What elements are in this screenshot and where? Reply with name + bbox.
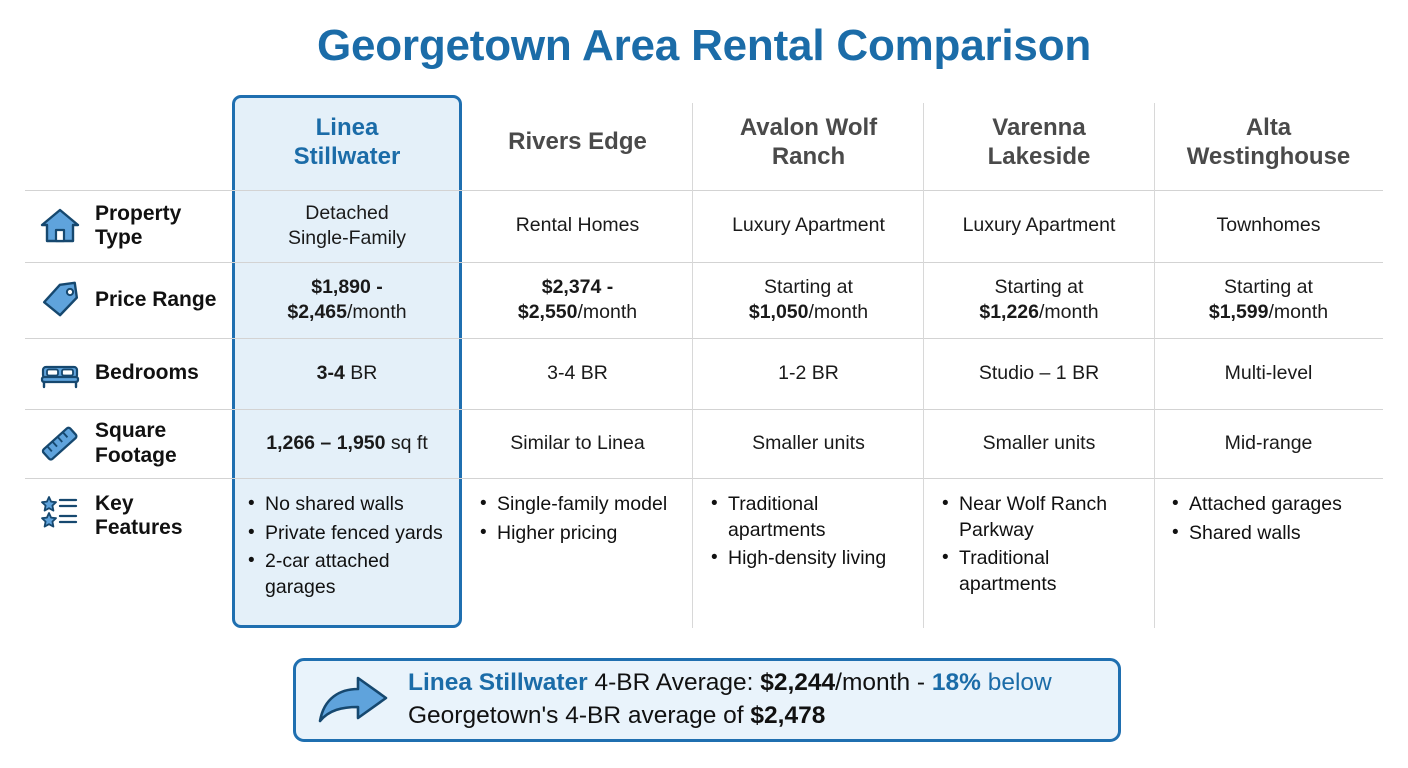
row-label-key-features: Key Features	[25, 478, 232, 630]
cell-bedrooms-avalon: 1-2 BR	[693, 338, 924, 409]
cell-line2: Single-Family	[288, 226, 406, 251]
feature-list-item: Traditional apartments	[942, 546, 1144, 597]
cell-line1: Starting at	[749, 275, 868, 300]
column-header-line2: Westinghouse	[1187, 143, 1351, 172]
banner-segment-3: Georgetown's 4-BR average of	[408, 702, 750, 729]
cell-features-linea: No shared wallsPrivate fenced yards2-car…	[232, 478, 462, 630]
banner-amount-2: $2,478	[750, 702, 825, 729]
cell-bedrooms-varenna: Studio – 1 BR	[924, 338, 1154, 409]
cell-property-type-rivers: Rental Homes	[462, 190, 693, 262]
feature-list-item: Attached garages	[1172, 492, 1342, 518]
cell-line1: Detached	[288, 201, 406, 226]
price-tag-icon	[37, 281, 83, 319]
row-label-text: Price Range	[95, 288, 216, 312]
column-header-line1: Avalon Wolf	[740, 114, 877, 143]
ruler-icon	[37, 424, 83, 464]
cell-price-rivers: $2,374 - $2,550/month	[462, 262, 693, 338]
bed-icon	[37, 357, 83, 391]
cell-sqft-rivers: Similar to Linea	[462, 409, 693, 478]
column-header-avalon-wolf-ranch[interactable]: Avalon Wolf Ranch	[693, 95, 924, 190]
cell-property-type-alta: Townhomes	[1154, 190, 1383, 262]
feature-list-item: High-density living	[711, 546, 914, 572]
cell-features-avalon: Traditional apartmentsHigh-density livin…	[693, 478, 924, 630]
cell-price-linea: $1,890 - $2,465/month	[232, 262, 462, 338]
cell-line1: $1,890 -	[287, 275, 406, 300]
feature-list-item: Near Wolf Ranch Parkway	[942, 492, 1144, 543]
cell-features-varenna: Near Wolf Ranch ParkwayTraditional apart…	[924, 478, 1154, 630]
cell-property-type-linea: Detached Single-Family	[232, 190, 462, 262]
column-header-line1: Rivers Edge	[508, 128, 647, 157]
cell-features-rivers: Single-family modelHigher pricing	[462, 478, 693, 630]
row-label-price-range: Price Range	[25, 262, 232, 338]
column-header-line2: Ranch	[740, 143, 877, 172]
cell-price-varenna: Starting at $1,226/month	[924, 262, 1154, 338]
feature-list: Attached garagesShared walls	[1172, 492, 1342, 549]
column-header-line2: Stillwater	[294, 143, 401, 172]
cell-property-type-varenna: Luxury Apartment	[924, 190, 1154, 262]
column-header-line1: Alta	[1187, 114, 1351, 143]
table-corner-cell	[25, 95, 232, 190]
column-header-line1: Varenna	[988, 114, 1091, 143]
row-label-property-type: Property Type	[25, 190, 232, 262]
cell-sqft-linea: 1,266 – 1,950 sq ft	[232, 409, 462, 478]
infographic-root: Georgetown Area Rental Comparison Linea …	[0, 0, 1408, 768]
cell-line2: $1,226/month	[979, 300, 1098, 325]
feature-list: Single-family modelHigher pricing	[480, 492, 667, 549]
cell-line2: $1,050/month	[749, 300, 868, 325]
banner-brand: Linea Stillwater	[408, 669, 588, 696]
column-header-rivers-edge[interactable]: Rivers Edge	[462, 95, 693, 190]
row-label-bedrooms: Bedrooms	[25, 338, 232, 409]
cell-line2: $2,465/month	[287, 300, 406, 325]
feature-list-item: 2-car attached garages	[248, 549, 452, 600]
column-header-linea-stillwater[interactable]: Linea Stillwater	[232, 95, 462, 190]
feature-list-item: No shared walls	[248, 492, 452, 518]
cell-sqft-alta: Mid-range	[1154, 409, 1383, 478]
cell-bedrooms-rivers: 3-4 BR	[462, 338, 693, 409]
comparison-table: Linea Stillwater Rivers Edge Avalon Wolf…	[25, 95, 1383, 635]
feature-list-item: Shared walls	[1172, 521, 1342, 547]
star-list-icon	[37, 492, 83, 532]
banner-segment-2: /month -	[835, 669, 932, 696]
column-header-line1: Linea	[294, 114, 401, 143]
feature-list-item: Private fenced yards	[248, 521, 452, 547]
cell-sqft-varenna: Smaller units	[924, 409, 1154, 478]
cell-price-avalon: Starting at $1,050/month	[693, 262, 924, 338]
cell-features-alta: Attached garagesShared walls	[1154, 478, 1383, 630]
row-label-text: Square Footage	[95, 419, 177, 467]
cell-line1: Starting at	[1209, 275, 1328, 300]
curved-arrow-right-icon	[314, 671, 392, 729]
house-icon	[37, 207, 83, 245]
cell-sqft-avalon: Smaller units	[693, 409, 924, 478]
cell-property-type-avalon: Luxury Apartment	[693, 190, 924, 262]
summary-banner-text: Linea Stillwater 4-BR Average: $2,244/mo…	[408, 667, 1118, 732]
feature-list: Near Wolf Ranch ParkwayTraditional apart…	[942, 492, 1144, 601]
row-label-square-footage: Square Footage	[25, 409, 232, 478]
feature-list: Traditional apartmentsHigh-density livin…	[711, 492, 914, 575]
banner-below-word: below	[981, 669, 1052, 696]
feature-list-item: Single-family model	[480, 492, 667, 518]
cell-line1: Starting at	[979, 275, 1098, 300]
column-header-line2: Lakeside	[988, 143, 1091, 172]
banner-amount-1: $2,244	[760, 669, 835, 696]
summary-banner: Linea Stillwater 4-BR Average: $2,244/mo…	[293, 658, 1121, 742]
row-label-text: Property Type	[95, 202, 181, 250]
cell-price-alta: Starting at $1,599/month	[1154, 262, 1383, 338]
cell-bedrooms-linea: 3-4 BR	[232, 338, 462, 409]
column-header-alta-westinghouse[interactable]: Alta Westinghouse	[1154, 95, 1383, 190]
row-label-text: Bedrooms	[95, 361, 199, 385]
cell-line2: $2,550/month	[518, 300, 637, 325]
feature-list-item: Higher pricing	[480, 521, 667, 547]
row-label-text: Key Features	[95, 492, 183, 540]
feature-list-item: Traditional apartments	[711, 492, 914, 543]
cell-line1: $2,374 -	[518, 275, 637, 300]
cell-bedrooms-alta: Multi-level	[1154, 338, 1383, 409]
column-header-varenna-lakeside[interactable]: Varenna Lakeside	[924, 95, 1154, 190]
banner-percent: 18%	[932, 669, 981, 696]
page-title: Georgetown Area Rental Comparison	[0, 20, 1408, 73]
banner-segment-1: 4-BR Average:	[588, 669, 761, 696]
cell-line2: $1,599/month	[1209, 300, 1328, 325]
feature-list: No shared wallsPrivate fenced yards2-car…	[248, 492, 452, 604]
